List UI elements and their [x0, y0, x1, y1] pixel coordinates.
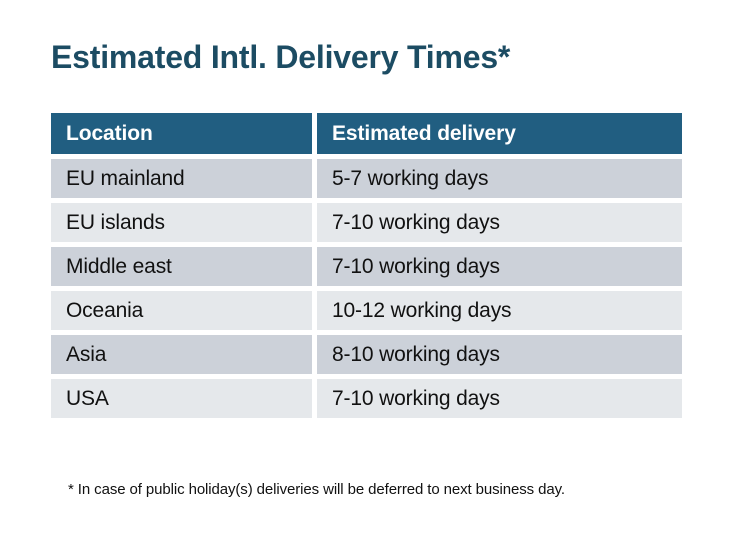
cell-delivery: 7-10 working days [317, 203, 682, 242]
cell-delivery: 10-12 working days [317, 291, 682, 330]
cell-delivery: 7-10 working days [317, 247, 682, 286]
table-body: EU mainland 5-7 working days EU islands … [51, 159, 682, 418]
delivery-times-table: Location Estimated delivery EU mainland … [46, 108, 687, 423]
column-header-estimated-delivery: Estimated delivery [317, 113, 682, 154]
table-row: Oceania 10-12 working days [51, 291, 682, 330]
cell-delivery: 7-10 working days [317, 379, 682, 418]
cell-location: EU mainland [51, 159, 312, 198]
cell-delivery: 8-10 working days [317, 335, 682, 374]
cell-location: USA [51, 379, 312, 418]
table-row: Asia 8-10 working days [51, 335, 682, 374]
table-header-row: Location Estimated delivery [51, 113, 682, 154]
page-title: Estimated Intl. Delivery Times* [51, 36, 691, 78]
table-header: Location Estimated delivery [51, 113, 682, 154]
cell-location: Middle east [51, 247, 312, 286]
cell-delivery: 5-7 working days [317, 159, 682, 198]
column-header-location: Location [51, 113, 312, 154]
footnote: * In case of public holiday(s) deliverie… [68, 480, 708, 500]
cell-location: Oceania [51, 291, 312, 330]
delivery-times-card: Estimated Intl. Delivery Times* Location… [0, 0, 745, 536]
table-row: EU mainland 5-7 working days [51, 159, 682, 198]
cell-location: EU islands [51, 203, 312, 242]
table-row: USA 7-10 working days [51, 379, 682, 418]
table-row: Middle east 7-10 working days [51, 247, 682, 286]
table-row: EU islands 7-10 working days [51, 203, 682, 242]
cell-location: Asia [51, 335, 312, 374]
